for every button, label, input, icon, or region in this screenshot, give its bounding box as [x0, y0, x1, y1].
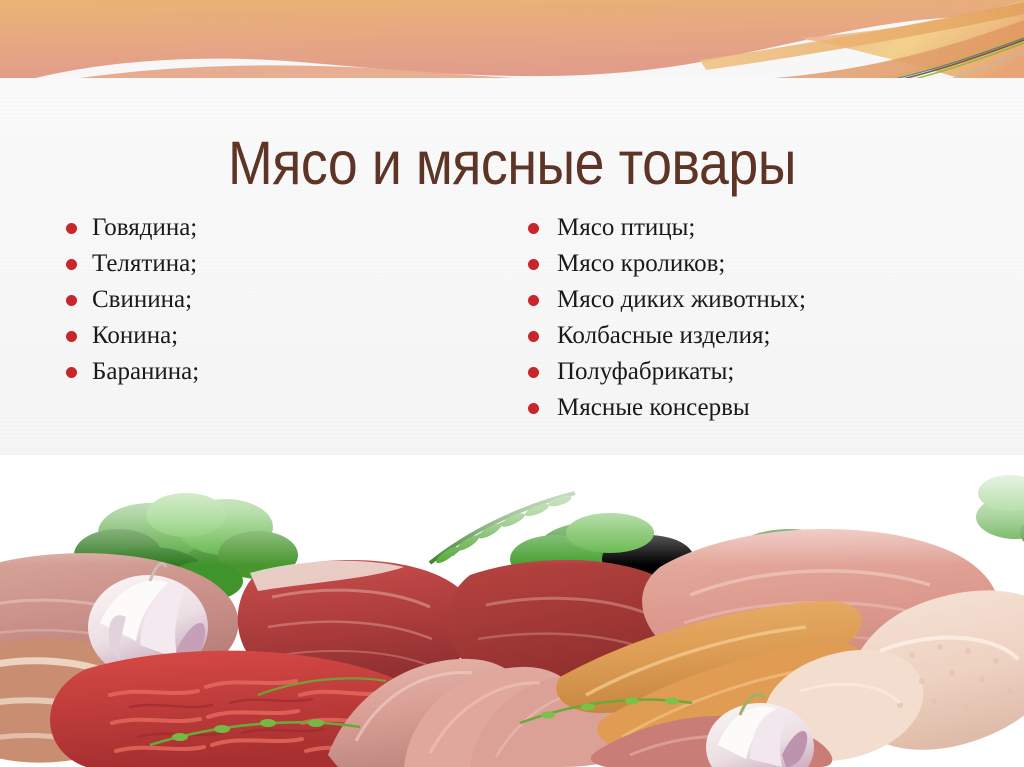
list-item: Полуфабрикаты;	[523, 354, 1003, 390]
list-item-label: Полуфабрикаты;	[557, 358, 734, 385]
bullet-dot-icon	[66, 367, 77, 378]
bullet-dot-icon	[528, 403, 539, 414]
bullet-dot-icon	[66, 259, 77, 270]
bullet-column-right: Мясо птицы; Мясо кроликов; Мясо диких жи…	[523, 210, 1003, 426]
bullet-list-left: Говядина; Телятина; Свинина; Конина; Бар…	[62, 210, 482, 390]
bullet-dot-icon	[528, 367, 539, 378]
meat-assortment-photo	[0, 455, 1024, 767]
bullet-dot-icon	[528, 223, 539, 234]
bullet-column-left: Говядина; Телятина; Свинина; Конина; Бар…	[62, 210, 482, 390]
list-item-label: Мясо кроликов;	[557, 250, 725, 277]
bullet-dot-icon	[66, 295, 77, 306]
list-item: Мясные консервы	[523, 390, 1003, 426]
list-item: Колбасные изделия;	[523, 318, 1003, 354]
list-item: Мясо кроликов;	[523, 246, 1003, 282]
bullet-list-right: Мясо птицы; Мясо кроликов; Мясо диких жи…	[523, 210, 1003, 426]
list-item: Свинина;	[62, 282, 482, 318]
list-item: Баранина;	[62, 354, 482, 390]
list-item-label: Телятина;	[92, 250, 197, 277]
bullet-dot-icon	[528, 331, 539, 342]
page-title: Мясо и мясные товары	[61, 129, 962, 197]
photo-top-fade	[0, 455, 1024, 565]
list-item: Мясо диких животных;	[523, 282, 1003, 318]
list-item-label: Свинина;	[92, 286, 192, 313]
list-item: Говядина;	[62, 210, 482, 246]
list-item: Конина;	[62, 318, 482, 354]
bullet-dot-icon	[528, 295, 539, 306]
list-item: Телятина;	[62, 246, 482, 282]
list-item-label: Мясо диких животных;	[557, 286, 806, 313]
list-item: Мясо птицы;	[523, 210, 1003, 246]
bullet-dot-icon	[66, 223, 77, 234]
list-item-label: Мясные консервы	[557, 394, 750, 421]
bullet-dot-icon	[528, 259, 539, 270]
list-item-label: Колбасные изделия;	[557, 322, 770, 349]
list-item-label: Мясо птицы;	[557, 214, 695, 241]
bullet-dot-icon	[66, 331, 77, 342]
list-item-label: Баранина;	[92, 358, 199, 385]
content-columns: Говядина; Телятина; Свинина; Конина; Бар…	[0, 210, 1024, 450]
list-item-label: Говядина;	[92, 214, 197, 241]
list-item-label: Конина;	[92, 322, 178, 349]
presentation-slide: Мясо и мясные товары Говядина; Телятина;…	[0, 0, 1024, 767]
